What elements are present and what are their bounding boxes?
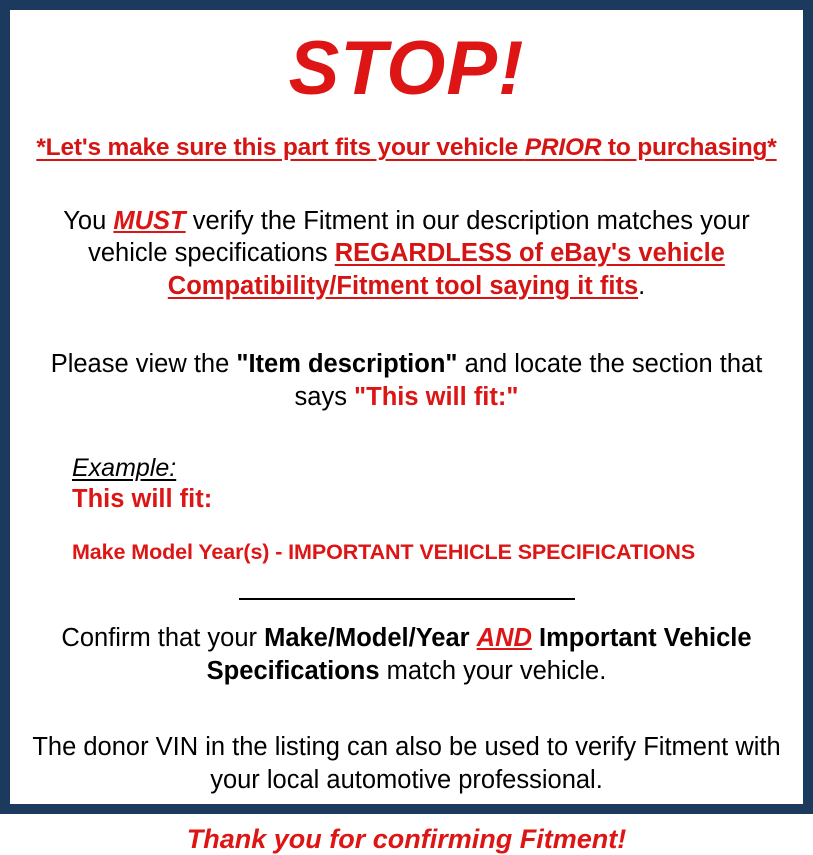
donor-vin-paragraph: The donor VIN in the listing can also be… (24, 731, 789, 796)
item-description-paragraph: Please view the "Item description" and l… (24, 348, 789, 413)
description-seg1: Please view the (51, 350, 237, 378)
example-label: Example: (72, 454, 176, 484)
this-will-fit-quote: "This will fit:" (354, 383, 518, 411)
confirm-bold-make-model-year: Make/Model/Year (264, 624, 477, 652)
thank-you-message: Thank you for confirming Fitment! (24, 823, 789, 855)
tagline-text-before: *Let's make sure this part fits your veh… (36, 134, 524, 161)
divider (24, 592, 789, 606)
must-paragraph-seg1: You (63, 207, 113, 235)
example-block: Example: This will fit: Make Model Year(… (24, 454, 789, 566)
confirm-seg2: match your vehicle. (380, 657, 607, 685)
tagline-emphasis-prior: PRIOR (525, 134, 602, 161)
example-fit-heading: This will fit: (72, 484, 789, 514)
item-description-label: "Item description" (236, 350, 457, 378)
must-emphasis: MUST (113, 207, 185, 235)
divider-line (239, 598, 575, 600)
notice-content: STOP! *Let's make sure this part fits yo… (10, 10, 803, 804)
fitment-notice-card: STOP! *Let's make sure this part fits yo… (0, 0, 813, 814)
example-spec-line: Make Model Year(s) - IMPORTANT VEHICLE S… (72, 540, 789, 566)
confirm-emphasis-and: AND (477, 624, 532, 652)
confirm-paragraph: Confirm that your Make/Model/Year AND Im… (24, 622, 789, 687)
confirm-seg1: Confirm that your (61, 624, 264, 652)
page-title: STOP! (24, 26, 789, 111)
tagline-text-after: to purchasing* (601, 134, 776, 161)
must-paragraph-seg3: . (638, 272, 645, 300)
tagline: *Let's make sure this part fits your veh… (24, 133, 789, 162)
example-label-row: Example: (72, 454, 789, 484)
must-verify-paragraph: You MUST verify the Fitment in our descr… (24, 205, 789, 303)
